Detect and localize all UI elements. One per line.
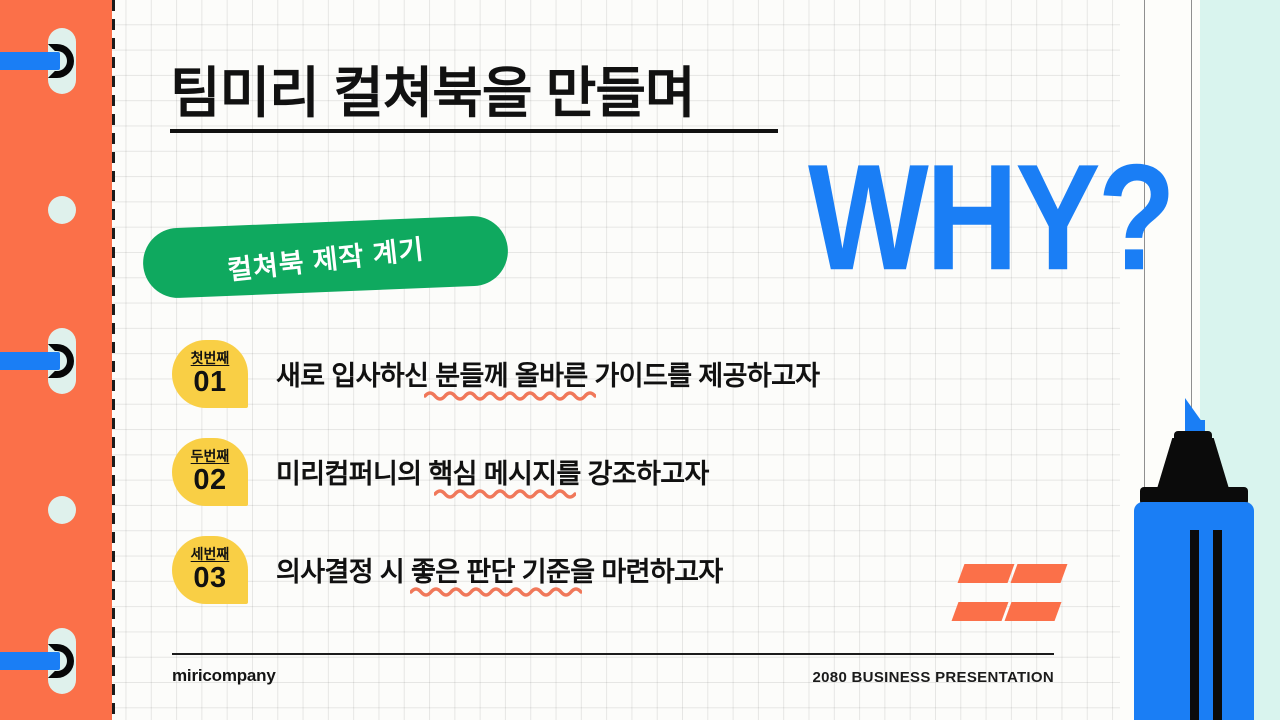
squiggle-underline xyxy=(424,389,596,401)
motif-bar xyxy=(1011,564,1068,583)
spiral-ring-bar-front xyxy=(0,354,54,368)
marker-stripe xyxy=(1213,530,1222,720)
marker-cap xyxy=(1156,438,1230,492)
decorative-bars-motif xyxy=(955,562,1060,634)
footer-brand: miricompany xyxy=(172,666,276,686)
marker-pen-illustration xyxy=(1128,398,1258,720)
item-badge: 첫번째 01 xyxy=(172,340,248,408)
spiral-ring-bar-front xyxy=(0,54,54,68)
motif-bar xyxy=(958,564,1015,583)
footer-caption: 2080 BUSINESS PRESENTATION xyxy=(813,669,1054,686)
binder-dot xyxy=(48,196,76,224)
item-badge: 세번째 03 xyxy=(172,536,248,604)
item-badge-ordinal: 첫번째 xyxy=(191,351,230,365)
slide-title: 팀미리 컬쳐북을 만들며 xyxy=(170,66,778,121)
why-headline: WHY? xyxy=(808,143,1173,294)
section-pill: 컬쳐북 제작 계기 xyxy=(142,215,510,300)
presentation-slide: 팀미리 컬쳐북을 만들며 WHY? 컬쳐북 제작 계기 첫번째 01 새로 입사… xyxy=(0,0,1280,720)
perforation-dashed-line xyxy=(112,0,115,720)
motif-bar xyxy=(952,602,1009,621)
item-badge-number: 02 xyxy=(193,466,226,495)
spiral-ring-bar-front xyxy=(0,654,54,668)
item-text: 의사결정 시 좋은 판단 기준을 마련하고자 xyxy=(276,550,723,589)
item-badge-ordinal: 두번째 xyxy=(191,449,230,463)
squiggle-underline xyxy=(410,585,582,597)
item-badge-ordinal: 세번째 xyxy=(191,547,230,561)
item-text: 새로 입사하신 분들께 올바른 가이드를 제공하고자 xyxy=(276,354,820,393)
slide-title-block: 팀미리 컬쳐북을 만들며 xyxy=(170,66,778,133)
binder-dot xyxy=(48,496,76,524)
item-badge-number: 03 xyxy=(193,564,226,593)
squiggle-underline xyxy=(434,487,576,499)
footer-divider xyxy=(172,653,1054,655)
item-text: 미리컴퍼니의 핵심 메시지를 강조하고자 xyxy=(276,452,709,491)
motif-bar xyxy=(1005,602,1062,621)
item-badge: 두번째 02 xyxy=(172,438,248,506)
item-badge-number: 01 xyxy=(193,368,226,397)
title-underline xyxy=(170,129,778,133)
marker-stripe xyxy=(1190,530,1199,720)
